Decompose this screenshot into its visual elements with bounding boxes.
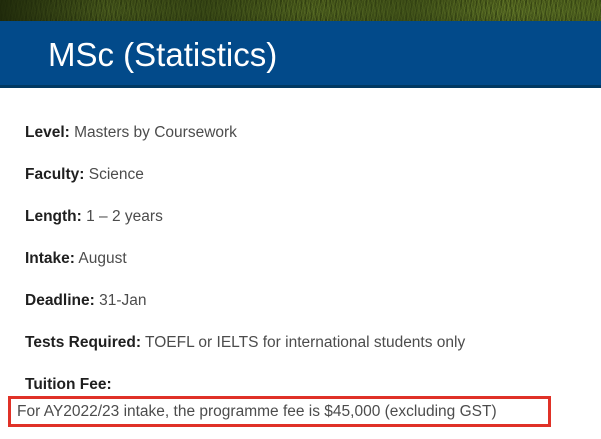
detail-value-tests-required: TOEFL or IELTS for international student… [141, 334, 465, 351]
detail-row-tests-required: Tests Required: TOEFL or IELTS for inter… [25, 333, 465, 353]
detail-label-tests-required: Tests Required: [25, 334, 141, 351]
detail-row-level: Level: Masters by Coursework [25, 123, 237, 143]
detail-value-level: Masters by Coursework [70, 124, 237, 141]
programme-detail-page: MSc (Statistics) Level: Masters by Cours… [0, 0, 601, 439]
detail-value-faculty: Science [84, 166, 143, 183]
detail-label-length: Length: [25, 208, 82, 225]
detail-label-intake: Intake: [25, 250, 75, 267]
grass-field-photo [0, 0, 601, 21]
detail-row-intake: Intake: August [25, 249, 127, 269]
detail-row-deadline: Deadline: 31-Jan [25, 291, 146, 311]
detail-value-deadline: 31-Jan [95, 292, 147, 309]
detail-value-length: 1 – 2 years [82, 208, 163, 225]
detail-label-level: Level: [25, 124, 70, 141]
detail-value-intake: August [75, 250, 127, 267]
detail-row-tuition-fee: Tuition Fee: [25, 375, 112, 395]
tuition-fee-note: For AY2022/23 intake, the programme fee … [17, 401, 497, 422]
detail-label-tuition-fee: Tuition Fee: [25, 376, 112, 393]
detail-row-faculty: Faculty: Science [25, 165, 144, 185]
detail-row-length: Length: 1 – 2 years [25, 207, 163, 227]
programme-details-content: Level: Masters by Coursework Faculty: Sc… [0, 88, 601, 439]
detail-label-deadline: Deadline: [25, 292, 95, 309]
detail-label-faculty: Faculty: [25, 166, 84, 183]
page-title: MSc (Statistics) [48, 36, 277, 74]
